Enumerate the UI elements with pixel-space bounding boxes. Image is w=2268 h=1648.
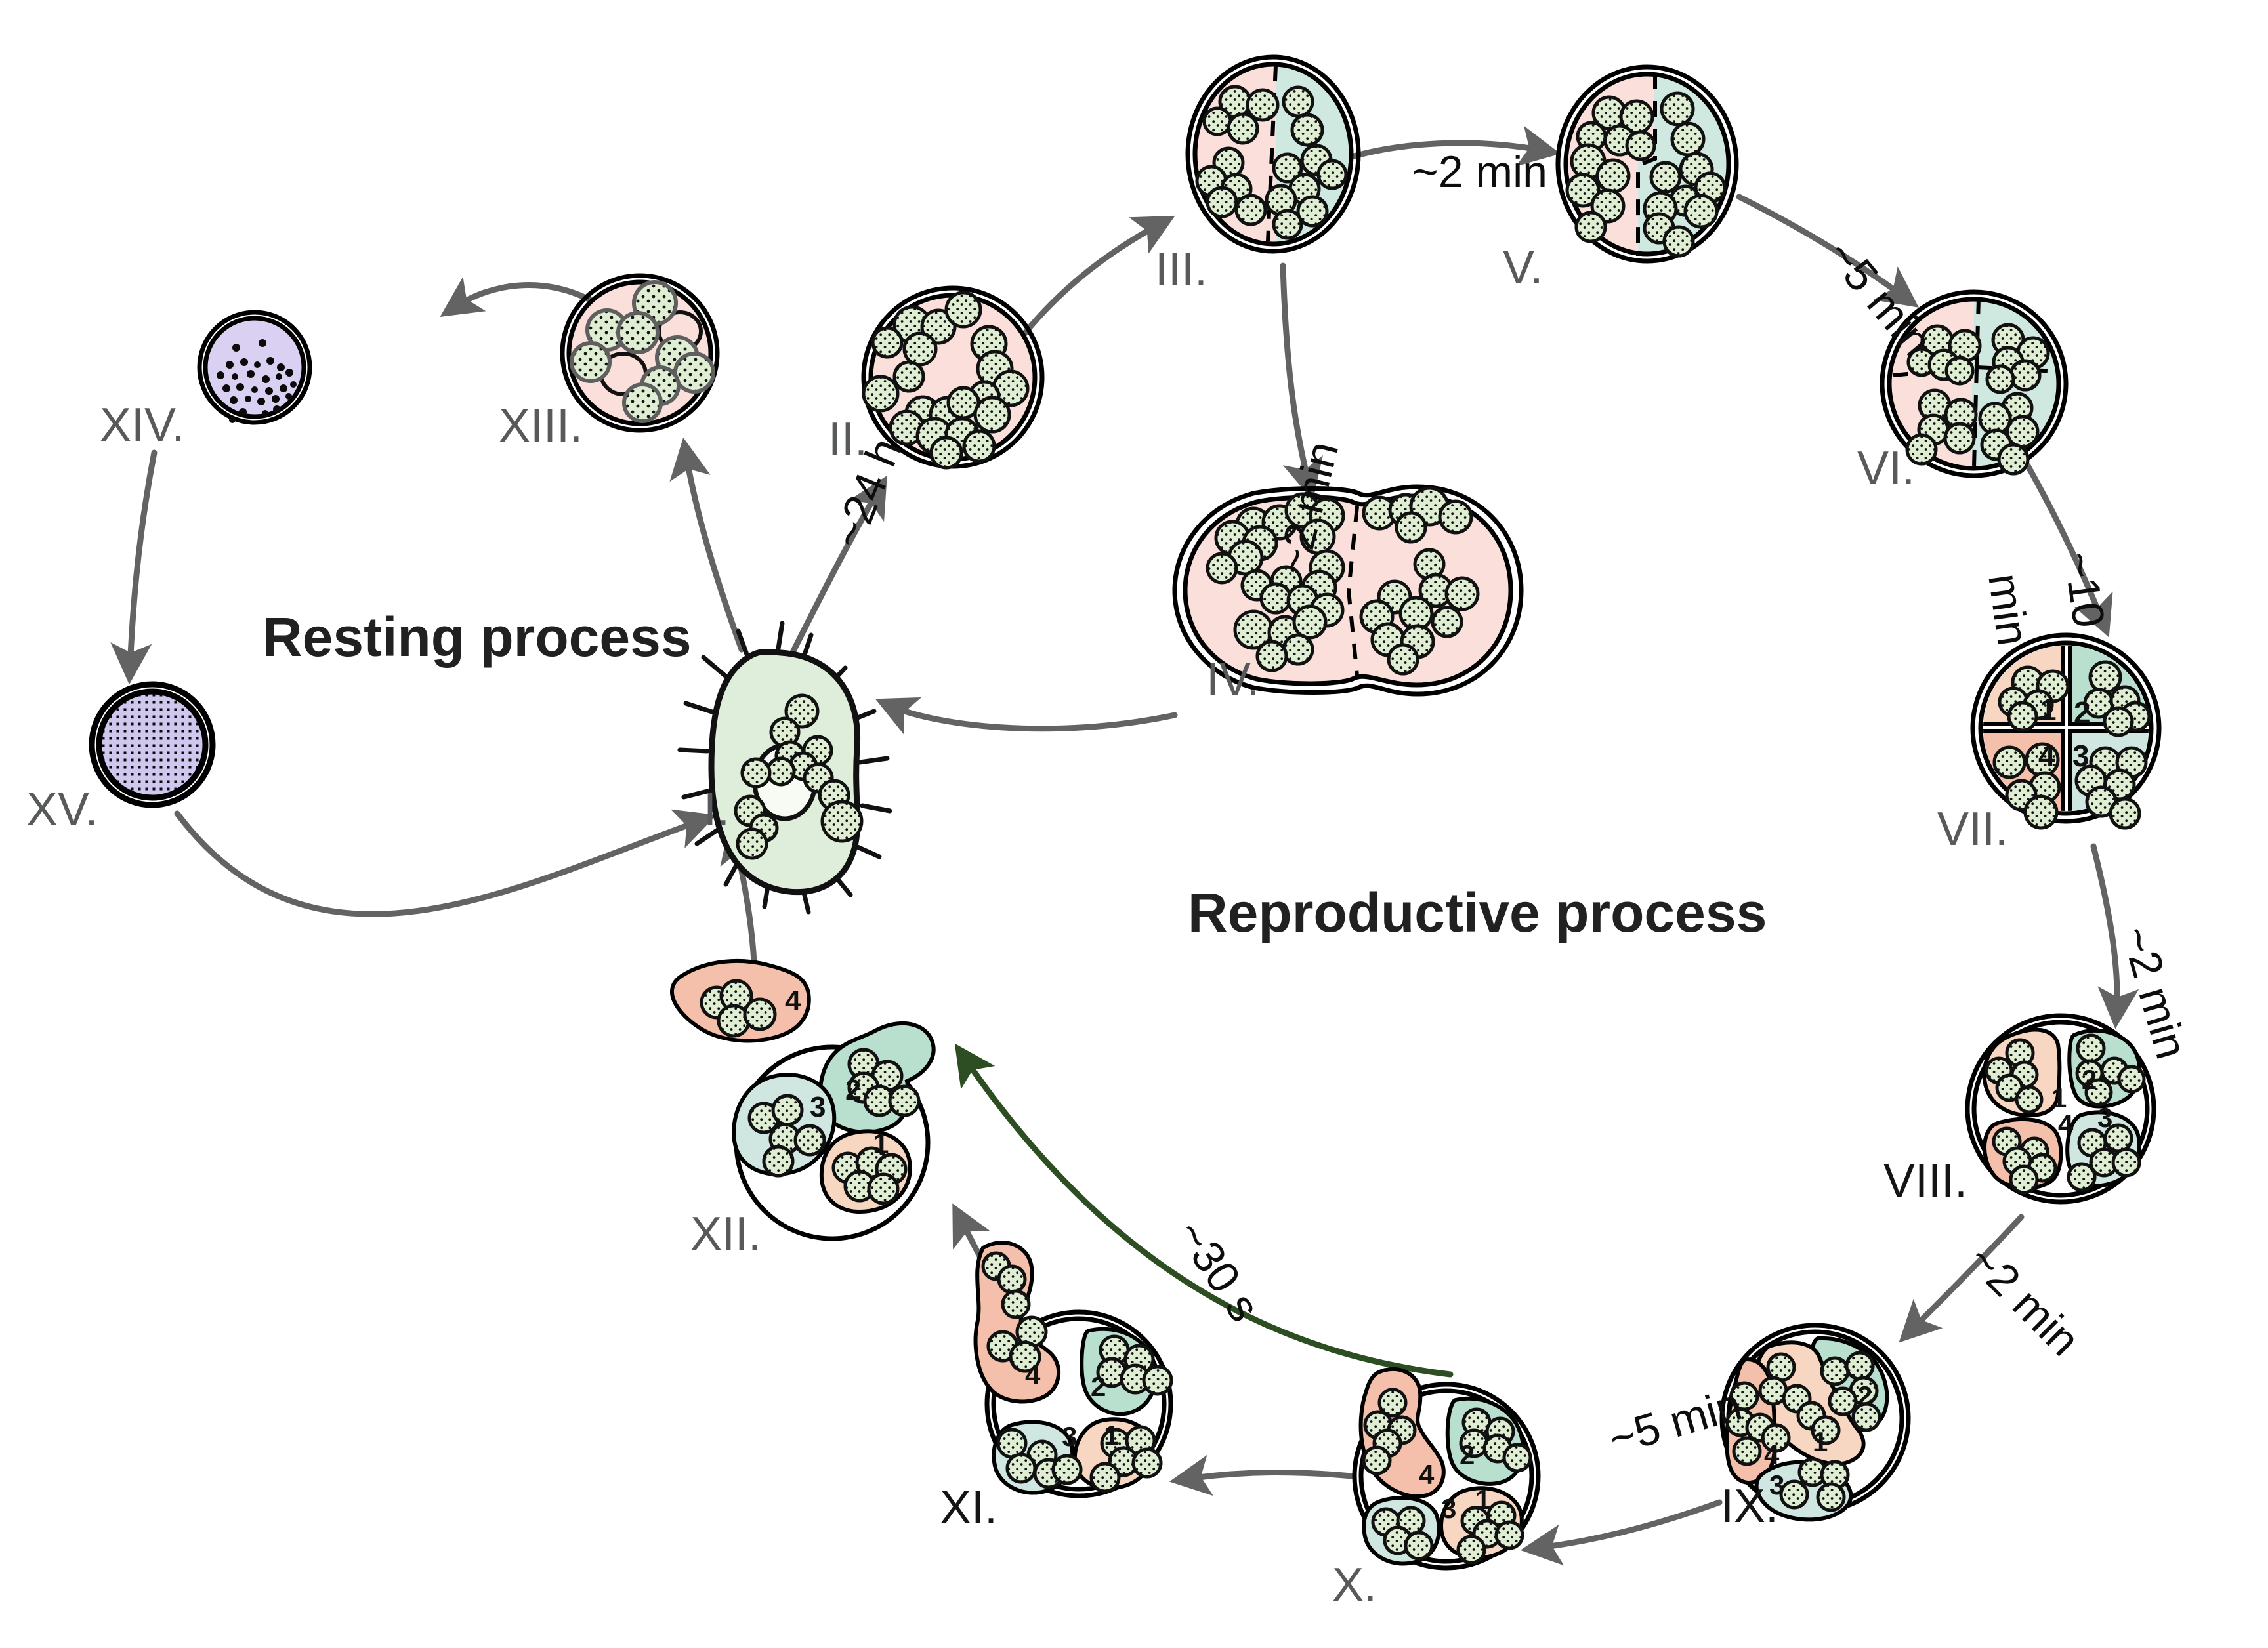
arrow-XIII-to-XIV	[453, 285, 594, 308]
svg-text:3: 3	[1062, 1421, 1077, 1452]
svg-text:2: 2	[1857, 1380, 1872, 1411]
svg-text:1: 1	[1104, 1420, 1119, 1451]
stage-label-VI: VI.	[1857, 442, 1915, 495]
arrow-IX-to-X	[1536, 1502, 1719, 1548]
arrow-XIV-to-XV	[130, 453, 154, 669]
stage-label-XII: XII.	[690, 1208, 761, 1260]
stage-I-cell	[680, 623, 890, 912]
stage-XIII-cell	[562, 276, 717, 430]
arrow-IV-to-I	[889, 705, 1175, 729]
reproductive-process-label: Reproductive process	[1188, 882, 1767, 943]
time-III-V: ~2 min	[1412, 147, 1547, 197]
time-VIII-IX: ~2 min	[1958, 1235, 2089, 1365]
stage-label-III: III.	[1155, 243, 1207, 296]
svg-text:4: 4	[1025, 1359, 1041, 1390]
stage-label-XI: XI.	[940, 1481, 997, 1534]
stage-VIII-cell: 1 2 3 4	[1967, 1016, 2154, 1202]
svg-text:2: 2	[2074, 695, 2091, 730]
svg-text:1: 1	[1813, 1426, 1828, 1457]
arrow-XV-to-I	[177, 814, 702, 914]
stage-III-cell	[1185, 52, 1368, 262]
stage-label-XV: XV.	[26, 783, 98, 836]
stage-label-VIII: VIII.	[1883, 1155, 1967, 1207]
svg-text:4: 4	[2038, 739, 2055, 773]
svg-text:4: 4	[1764, 1439, 1780, 1470]
stage-XV-cell	[92, 684, 213, 805]
stage-label-IX: IX.	[1721, 1480, 1778, 1533]
svg-text:3: 3	[1441, 1493, 1456, 1524]
arrow-I-to-XIII	[686, 453, 742, 649]
stage-label-I: I.	[703, 783, 730, 836]
stage-X-cell: 1 2 3 4	[1354, 1369, 1538, 1568]
svg-text:4: 4	[1419, 1459, 1435, 1490]
stage-label-VII: VII.	[1937, 803, 2008, 855]
arrow-II-to-III	[1024, 223, 1162, 335]
stage-VII-cell: 1 2 3 4	[1973, 635, 2159, 828]
time-VI-VII-b: min	[1979, 571, 2038, 649]
stage-XII-cell: 1 2 3 4	[672, 961, 934, 1239]
time-X-XII: ~30 s	[1167, 1211, 1270, 1330]
life-cycle-diagram: 1 2 3 4	[0, 0, 2268, 1648]
stage-label-XIII: XIII.	[499, 400, 583, 452]
time-V-VI: ~5 min	[1817, 230, 1942, 366]
stage-II-cell	[864, 288, 1042, 468]
svg-text:2: 2	[1459, 1439, 1475, 1470]
resting-process-label: Resting process	[262, 606, 692, 668]
svg-text:1: 1	[1475, 1484, 1490, 1515]
stage-label-XIV: XIV.	[100, 399, 184, 451]
svg-text:4: 4	[2058, 1109, 2074, 1140]
svg-text:2: 2	[2082, 1064, 2097, 1095]
stage-XIV-cell	[199, 312, 310, 423]
stage-XI-cell: 1 2 3 4	[976, 1243, 1171, 1496]
svg-text:4: 4	[785, 985, 801, 1017]
svg-text:3: 3	[2072, 739, 2089, 773]
svg-text:3: 3	[810, 1091, 826, 1123]
svg-text:1: 1	[2040, 693, 2057, 727]
arrow-VII-to-VIII	[2093, 846, 2117, 1014]
arrow-X-to-XI	[1185, 1473, 1352, 1479]
stage-V-cell	[1555, 62, 1746, 272]
svg-text:1: 1	[873, 1128, 889, 1160]
stage-label-X: X.	[1332, 1559, 1377, 1611]
time-VI-VII-a: ~10	[2054, 549, 2114, 631]
stage-label-IV: IV.	[1206, 653, 1259, 706]
svg-text:2: 2	[1091, 1371, 1106, 1402]
svg-text:2: 2	[845, 1074, 861, 1106]
stage-label-V: V.	[1503, 241, 1543, 294]
svg-text:3: 3	[2097, 1102, 2112, 1133]
